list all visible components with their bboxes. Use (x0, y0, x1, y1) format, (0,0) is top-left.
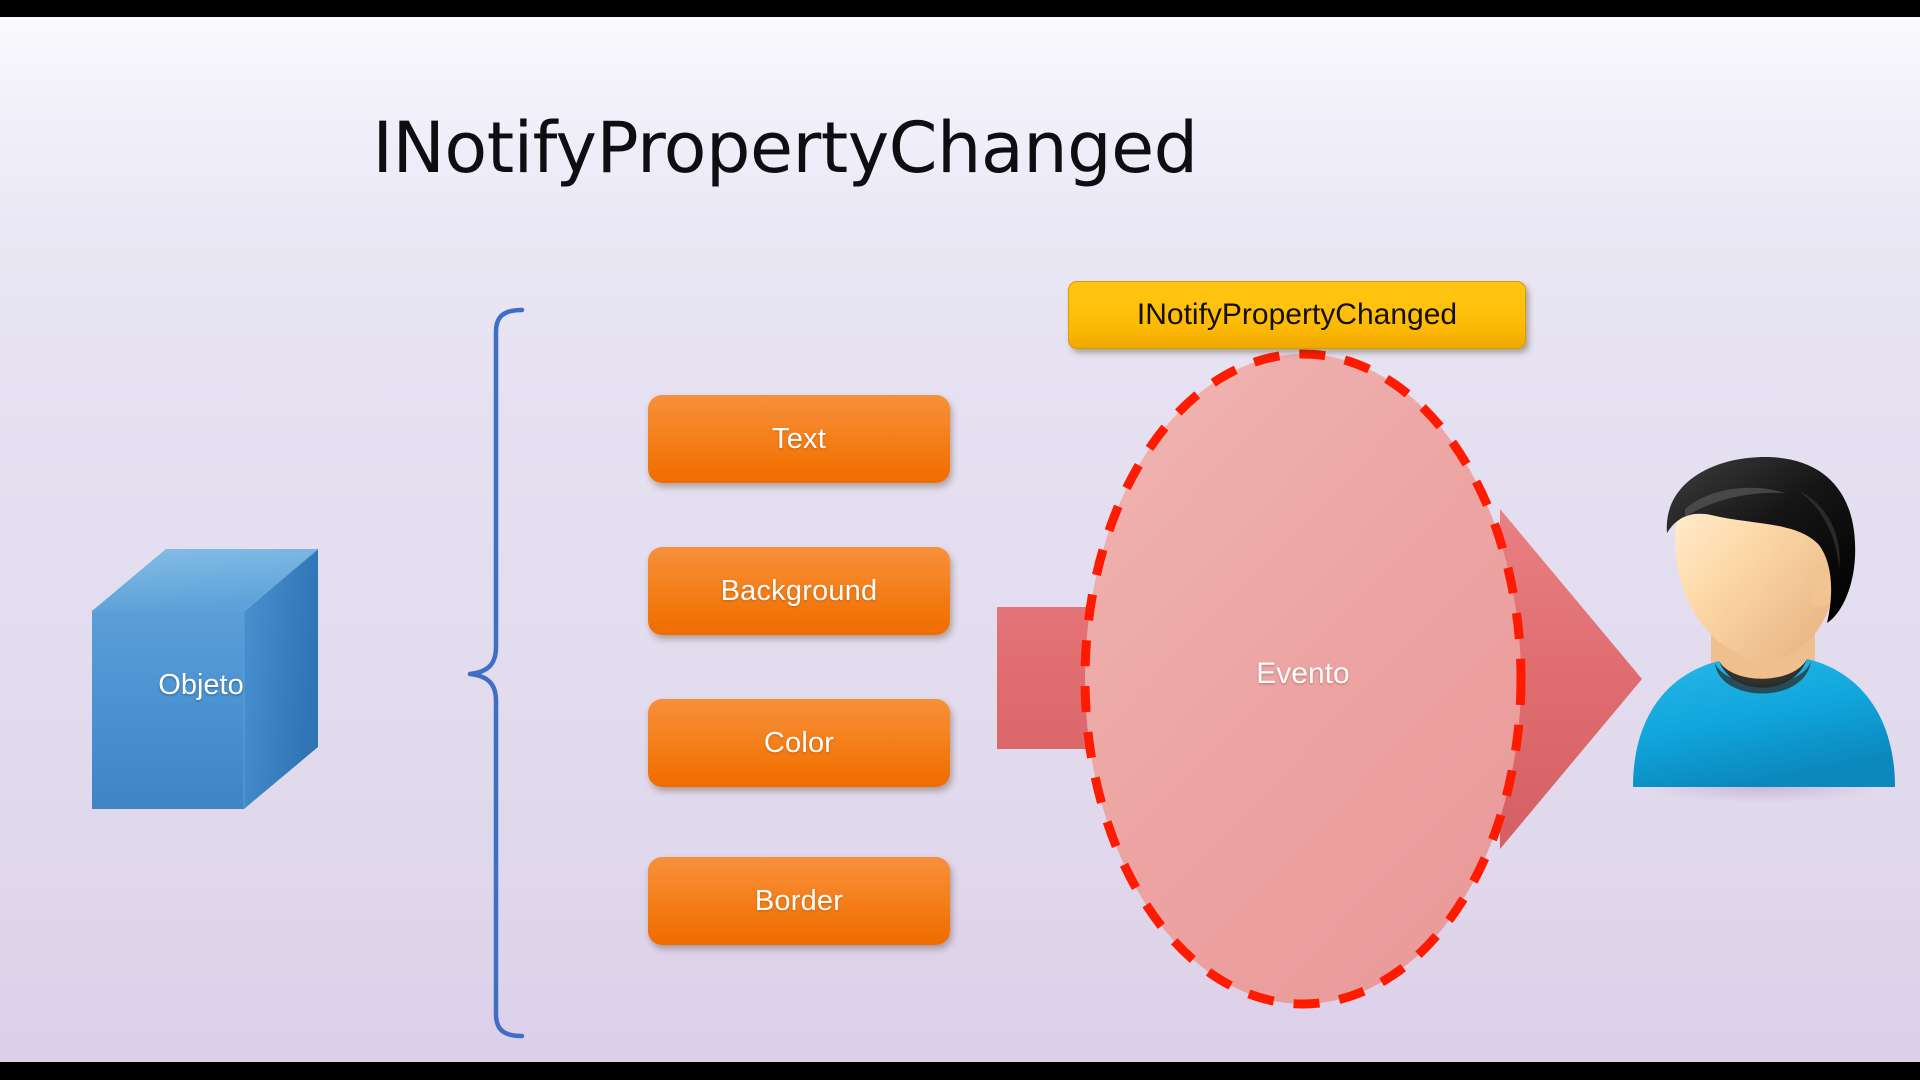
cube-icon (70, 507, 390, 817)
object-cube[interactable] (70, 507, 390, 817)
slide-stage: INotifyPropertyChanged (0, 0, 1920, 1080)
property-box-border[interactable]: Border (648, 857, 950, 945)
consumer-avatar (1615, 457, 1915, 802)
user-avatar-icon (1615, 457, 1915, 802)
slide-title: INotifyPropertyChanged (0, 107, 1570, 189)
event-ellipse[interactable] (1078, 347, 1528, 1012)
letterbox-bar-top (0, 0, 1920, 17)
event-ellipse-shape (1078, 347, 1528, 1012)
grouping-brace (420, 302, 540, 1042)
property-box-color[interactable]: Color (648, 699, 950, 787)
interface-banner[interactable]: INotifyPropertyChanged (1068, 281, 1526, 349)
property-box-background[interactable]: Background (648, 547, 950, 635)
property-box-text[interactable]: Text (648, 395, 950, 483)
left-curly-brace-icon (420, 302, 540, 1042)
slide-canvas: INotifyPropertyChanged (0, 17, 1920, 1062)
letterbox-bar-bottom (0, 1062, 1920, 1080)
